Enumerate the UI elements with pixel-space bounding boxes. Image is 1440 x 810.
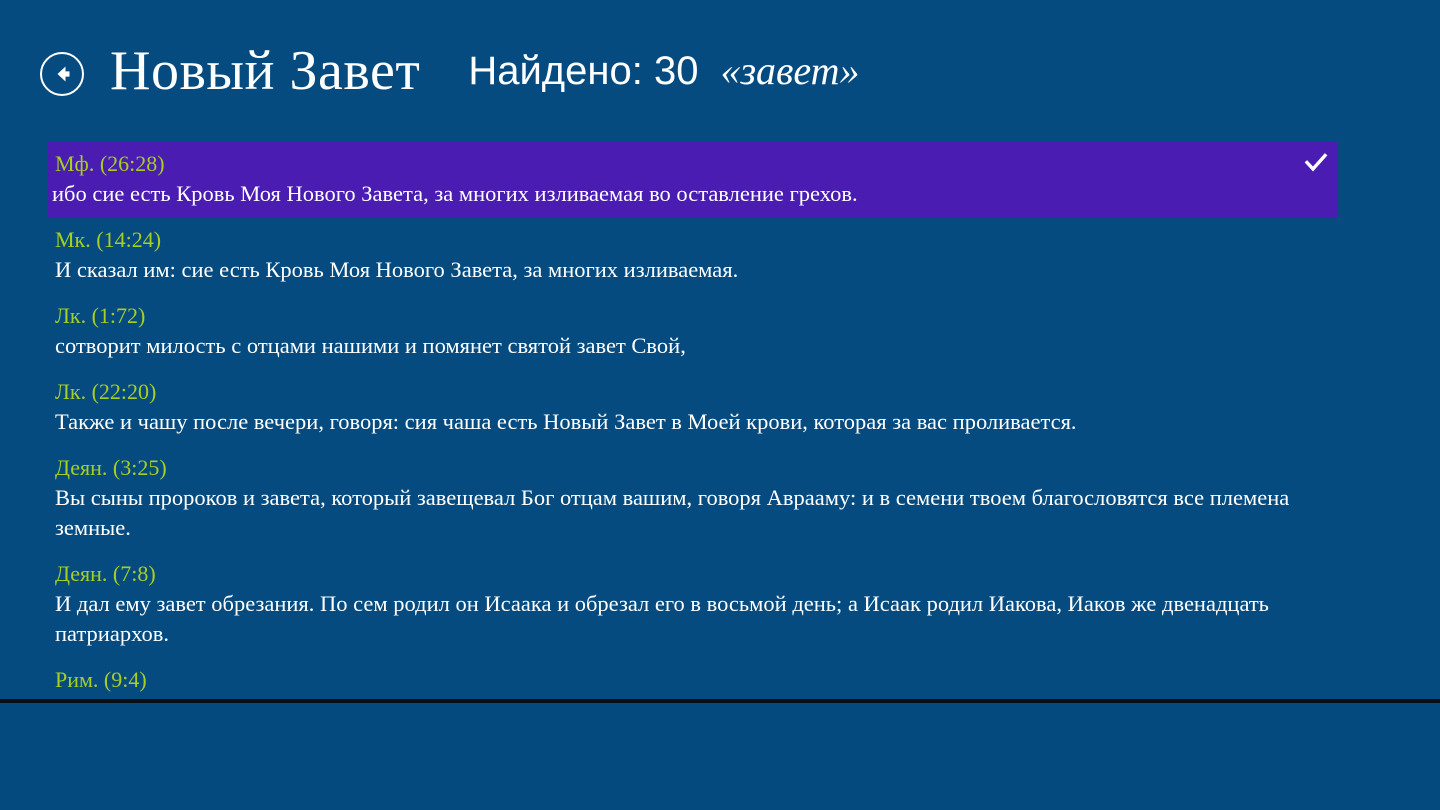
result-reference: Лк. (22:20) bbox=[48, 377, 1338, 407]
result-reference: Деян. (3:25) bbox=[48, 453, 1338, 483]
result-verse-text: ибо сие есть Кровь Моя Нового Завета, за… bbox=[52, 179, 1338, 209]
checkmark-icon bbox=[1304, 150, 1328, 174]
page-title: Новый Завет bbox=[110, 43, 420, 99]
result-item[interactable]: Рим. (9:4)то есть Израильтян, которым пр… bbox=[48, 658, 1338, 701]
result-verse-text: Также и чашу после вечери, говоря: сия ч… bbox=[48, 407, 1338, 437]
search-query-label: «завет» bbox=[720, 51, 859, 91]
app-root: Новый Завет Найдено: 30 «завет» Мф. (26:… bbox=[0, 0, 1440, 810]
result-item[interactable]: Лк. (1:72)сотворит милость с отцами наши… bbox=[48, 294, 1338, 370]
result-reference: Мк. (14:24) bbox=[48, 225, 1338, 255]
result-reference: Деян. (7:8) bbox=[48, 559, 1338, 589]
result-item[interactable]: Лк. (22:20)Также и чашу после вечери, го… bbox=[48, 370, 1338, 446]
back-arrow-icon bbox=[49, 61, 75, 87]
result-reference: Лк. (1:72) bbox=[48, 301, 1338, 331]
result-item[interactable]: Деян. (7:8)И дал ему завет обрезания. По… bbox=[48, 552, 1338, 658]
search-results-list[interactable]: Мф. (26:28)ибо сие есть Кровь Моя Нового… bbox=[0, 142, 1440, 701]
back-button[interactable] bbox=[40, 52, 84, 96]
result-item[interactable]: Мф. (26:28)ибо сие есть Кровь Моя Нового… bbox=[48, 142, 1338, 218]
result-reference: Мф. (26:28) bbox=[48, 149, 1338, 179]
result-item[interactable]: Мк. (14:24)И сказал им: сие есть Кровь М… bbox=[48, 218, 1338, 294]
result-verse-text: И дал ему завет обрезания. По сем родил … bbox=[48, 589, 1338, 649]
result-verse-text: И сказал им: сие есть Кровь Моя Нового З… bbox=[48, 255, 1338, 285]
found-count-label: Найдено: 30 bbox=[468, 51, 698, 91]
header: Новый Завет Найдено: 30 «завет» bbox=[0, 0, 1440, 142]
result-reference: Рим. (9:4) bbox=[48, 665, 1338, 695]
app-bar: Копировать текст стиха A Увеличить шрифт… bbox=[0, 703, 1440, 810]
result-verse-text: Вы сыны пророков и завета, который завещ… bbox=[48, 483, 1338, 543]
result-item[interactable]: Деян. (3:25)Вы сыны пророков и завета, к… bbox=[48, 446, 1338, 552]
result-verse-text: сотворит милость с отцами нашими и помян… bbox=[48, 331, 1338, 361]
